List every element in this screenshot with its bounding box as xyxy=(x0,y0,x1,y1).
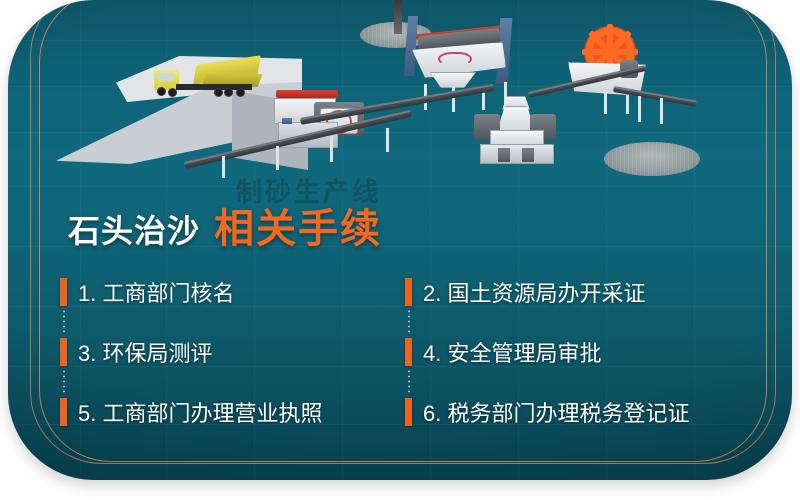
list-item[interactable]: 4. 安全管理局审批 xyxy=(405,322,601,382)
list-item-label: 4. 安全管理局审批 xyxy=(423,336,601,368)
conveyor-support xyxy=(638,96,641,122)
list-item[interactable]: 3. 环保局测评 xyxy=(60,322,212,382)
banner-image: 制砂生产线 石头治沙 相关手续 1. 工商部门核名 2. 国土资源局办开采证 xyxy=(0,0,800,500)
title-orange-part: 相关手续 xyxy=(214,196,382,254)
list-item[interactable]: 5. 工商部门办理营业执照 xyxy=(60,382,322,442)
list-item-label: 1. 工商部门核名 xyxy=(78,276,234,308)
title-white-part: 石头治沙 xyxy=(68,206,200,252)
bullet-bar-icon xyxy=(60,398,67,426)
bullet-bar-icon xyxy=(405,398,412,426)
bullet-bar-icon xyxy=(60,278,67,306)
list-item-label: 6. 税务部门办理税务登记证 xyxy=(423,396,689,428)
list-row: 1. 工商部门核名 2. 国土资源局办开采证 xyxy=(8,262,792,322)
conveyor-support xyxy=(330,136,333,162)
tower-structure xyxy=(394,0,402,34)
cone-crusher xyxy=(470,96,562,168)
list-item[interactable]: 2. 国土资源局办开采证 xyxy=(405,262,645,322)
bullet-bar-icon xyxy=(405,278,412,306)
bullet-bar-icon xyxy=(405,338,412,366)
banner-card: 制砂生产线 石头治沙 相关手续 1. 工商部门核名 2. 国土资源局办开采证 xyxy=(8,0,792,480)
conveyor-support xyxy=(660,98,663,124)
bullet-bar-icon xyxy=(60,338,67,366)
gravel-pile-icon xyxy=(604,142,700,176)
procedure-list: 1. 工商部门核名 2. 国土资源局办开采证 3. 环保局测评 4. 安全管理局… xyxy=(8,262,792,442)
conveyor-support xyxy=(276,146,279,170)
list-item[interactable]: 6. 税务部门办理税务登记证 xyxy=(405,382,689,442)
list-row: 5. 工商部门办理营业执照 6. 税务部门办理税务登记证 xyxy=(8,382,792,442)
conveyor-support xyxy=(386,128,389,152)
dump-truck xyxy=(154,58,264,102)
list-item-label: 3. 环保局测评 xyxy=(78,336,212,368)
list-item-label: 5. 工商部门办理营业执照 xyxy=(78,396,322,428)
list-row: 3. 环保局测评 4. 安全管理局审批 xyxy=(8,322,792,382)
conveyor-support xyxy=(222,156,225,178)
page-title: 石头治沙 相关手续 xyxy=(68,196,382,254)
list-item[interactable]: 1. 工商部门核名 xyxy=(60,262,234,322)
production-line-illustration xyxy=(8,0,792,200)
list-item-label: 2. 国土资源局办开采证 xyxy=(423,276,645,308)
